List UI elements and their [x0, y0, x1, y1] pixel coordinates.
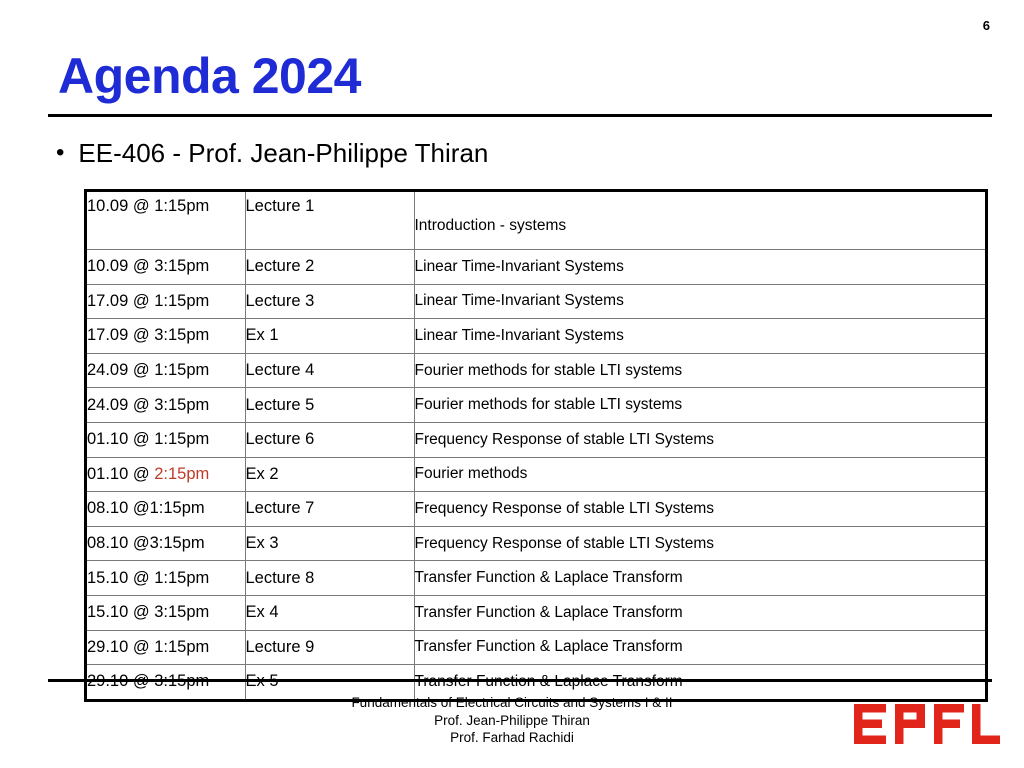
cell-topic: Frequency Response of stable LTI Systems [414, 422, 985, 457]
title-divider [48, 114, 992, 117]
course-bullet-label: EE-406 - Prof. Jean-Philippe Thiran [78, 138, 488, 168]
cell-topic: Frequency Response of stable LTI Systems [414, 492, 985, 527]
cell-session: Lecture 1 [245, 192, 414, 250]
cell-topic: Transfer Function & Laplace Transform [414, 561, 985, 596]
table-row: 17.09 @ 3:15pmEx 1Linear Time-Invariant … [87, 319, 985, 354]
table-row: 01.10 @ 1:15pmLecture 6Frequency Respons… [87, 422, 985, 457]
cell-session: Lecture 8 [245, 561, 414, 596]
cell-session: Lecture 4 [245, 353, 414, 388]
table-row: 15.10 @ 3:15pmEx 4Transfer Function & La… [87, 595, 985, 630]
cell-datetime-text: 10.09 @ 3:15pm [87, 257, 209, 275]
cell-datetime-text: 15.10 @ 3:15pm [87, 603, 209, 621]
table-row: 01.10 @ 2:15pmEx 2Fourier methods [87, 457, 985, 492]
title-block: Agenda 2024 [58, 50, 994, 103]
cell-session: Ex 1 [245, 319, 414, 354]
agenda-table: 10.09 @ 1:15pmLecture 1Introduction - sy… [87, 192, 985, 699]
cell-topic: Linear Time-Invariant Systems [414, 319, 985, 354]
cell-datetime-text: 08.10 @3:15pm [87, 534, 205, 552]
cell-datetime: 08.10 @1:15pm [87, 492, 245, 527]
cell-topic: Fourier methods [414, 457, 985, 492]
cell-topic: Transfer Function & Laplace Transform [414, 595, 985, 630]
cell-datetime: 10.09 @ 1:15pm [87, 192, 245, 250]
cell-datetime: 17.09 @ 1:15pm [87, 284, 245, 319]
cell-datetime-highlight: 2:15pm [154, 465, 209, 483]
agenda-table-container: 10.09 @ 1:15pmLecture 1Introduction - sy… [84, 189, 988, 702]
cell-datetime: 01.10 @ 2:15pm [87, 457, 245, 492]
cell-datetime: 15.10 @ 3:15pm [87, 595, 245, 630]
table-row: 10.09 @ 3:15pmLecture 2Linear Time-Invar… [87, 250, 985, 285]
cell-datetime-text: 01.10 @ 1:15pm [87, 430, 209, 448]
cell-datetime: 17.09 @ 3:15pm [87, 319, 245, 354]
cell-datetime-text: 08.10 @1:15pm [87, 499, 205, 517]
cell-datetime: 24.09 @ 3:15pm [87, 388, 245, 423]
cell-datetime: 01.10 @ 1:15pm [87, 422, 245, 457]
table-row: 08.10 @1:15pmLecture 7Frequency Response… [87, 492, 985, 527]
cell-session: Ex 2 [245, 457, 414, 492]
table-row: 10.09 @ 1:15pmLecture 1Introduction - sy… [87, 192, 985, 250]
cell-datetime: 29.10 @ 1:15pm [87, 630, 245, 665]
page-number: 6 [983, 19, 990, 32]
table-row: 24.09 @ 3:15pmLecture 5Fourier methods f… [87, 388, 985, 423]
slide-canvas: 6 Agenda 2024 • EE-406 - Prof. Jean-Phil… [0, 0, 1024, 768]
table-row: 15.10 @ 1:15pmLecture 8Transfer Function… [87, 561, 985, 596]
table-row: 08.10 @3:15pmEx 3Frequency Response of s… [87, 526, 985, 561]
table-row: 29.10 @ 1:15pmLecture 9Transfer Function… [87, 630, 985, 665]
cell-datetime-text: 17.09 @ 3:15pm [87, 326, 209, 344]
cell-session: Lecture 5 [245, 388, 414, 423]
cell-datetime-text: 17.09 @ 1:15pm [87, 292, 209, 310]
cell-topic: Transfer Function & Laplace Transform [414, 630, 985, 665]
cell-topic: Linear Time-Invariant Systems [414, 284, 985, 319]
cell-session: Ex 3 [245, 526, 414, 561]
cell-datetime: 08.10 @3:15pm [87, 526, 245, 561]
cell-topic: Linear Time-Invariant Systems [414, 250, 985, 285]
table-row: 17.09 @ 1:15pmLecture 3Linear Time-Invar… [87, 284, 985, 319]
epfl-logo [852, 700, 1002, 748]
agenda-table-body: 10.09 @ 1:15pmLecture 1Introduction - sy… [87, 192, 985, 699]
cell-datetime: 24.09 @ 1:15pm [87, 353, 245, 388]
cell-session: Ex 4 [245, 595, 414, 630]
footer-divider [48, 679, 992, 682]
page-title: Agenda 2024 [58, 50, 994, 103]
cell-session: Lecture 2 [245, 250, 414, 285]
cell-datetime-text: 24.09 @ 3:15pm [87, 396, 209, 414]
cell-datetime-text: 24.09 @ 1:15pm [87, 361, 209, 379]
table-row: 24.09 @ 1:15pmLecture 4Fourier methods f… [87, 353, 985, 388]
cell-session: Lecture 3 [245, 284, 414, 319]
cell-session: Lecture 9 [245, 630, 414, 665]
cell-datetime: 15.10 @ 1:15pm [87, 561, 245, 596]
cell-datetime-text: 10.09 @ 1:15pm [87, 197, 209, 215]
cell-datetime-text: 29.10 @ 1:15pm [87, 638, 209, 656]
cell-topic: Frequency Response of stable LTI Systems [414, 526, 985, 561]
cell-session: Lecture 7 [245, 492, 414, 527]
course-bullet: • EE-406 - Prof. Jean-Philippe Thiran [56, 138, 488, 168]
bullet-point-icon: • [56, 138, 64, 168]
cell-datetime: 10.09 @ 3:15pm [87, 250, 245, 285]
cell-session: Lecture 6 [245, 422, 414, 457]
cell-topic: Fourier methods for stable LTI systems [414, 388, 985, 423]
cell-datetime-text: 01.10 @ [87, 465, 154, 483]
cell-topic: Introduction - systems [414, 192, 985, 250]
cell-datetime-text: 15.10 @ 1:15pm [87, 569, 209, 587]
cell-topic: Fourier methods for stable LTI systems [414, 353, 985, 388]
